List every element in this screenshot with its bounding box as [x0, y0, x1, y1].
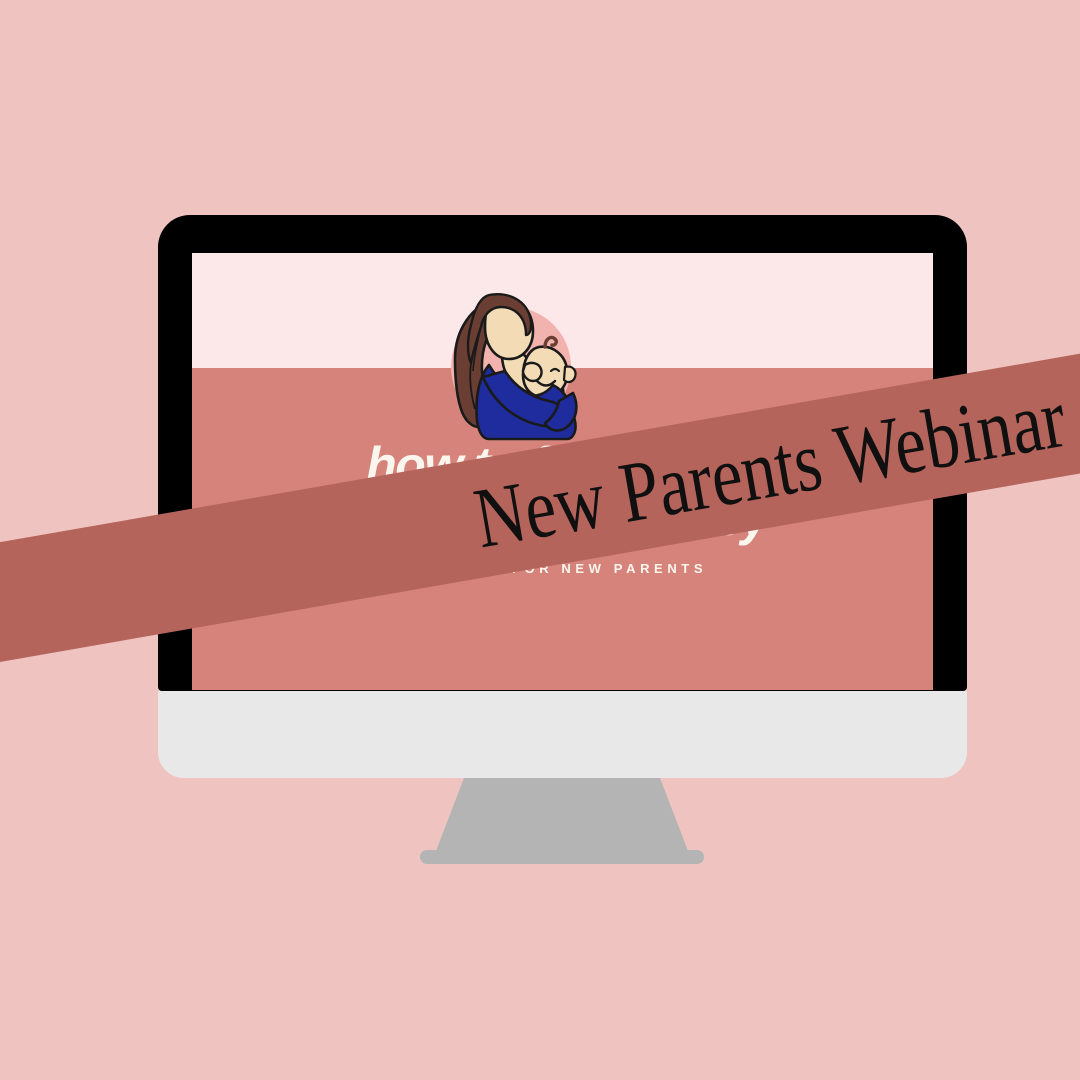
monitor-chin — [158, 691, 967, 778]
monitor-stand-base — [420, 850, 704, 864]
monitor-stand-neck — [434, 778, 690, 856]
poster-canvas: how to financially prepare for a baby A … — [0, 0, 1080, 1080]
mother-holding-baby-illustration — [427, 281, 587, 441]
